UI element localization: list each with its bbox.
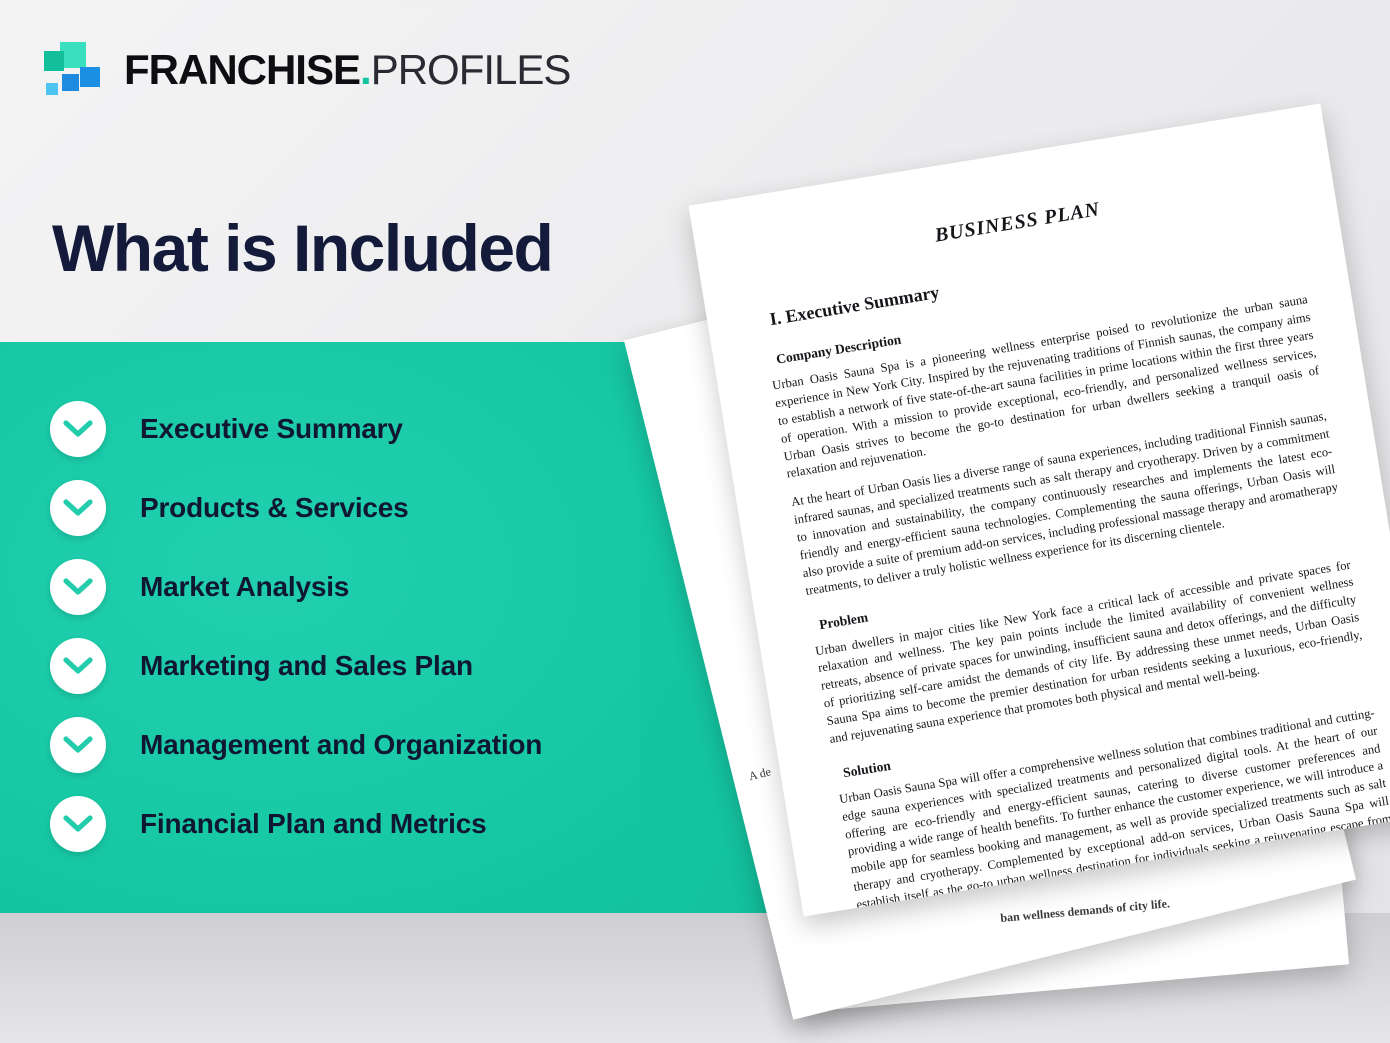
list-item-label: Financial Plan and Metrics xyxy=(140,808,486,840)
brand-logo[interactable]: FRANCHISE.PROFILES xyxy=(44,42,570,98)
list-item-products-services[interactable]: Products & Services xyxy=(50,477,710,539)
list-item-label: Executive Summary xyxy=(140,413,403,445)
list-item-label: Market Analysis xyxy=(140,571,349,603)
chevron-down-icon[interactable] xyxy=(50,401,106,457)
list-item-executive-summary[interactable]: Executive Summary xyxy=(50,398,710,460)
included-sections-list: Executive Summary Products & Services Ma… xyxy=(50,398,710,872)
list-item-financial-plan-and-metrics[interactable]: Financial Plan and Metrics xyxy=(50,793,710,855)
business-plan-document[interactable]: BUSINESS PLAN I. Executive Summary Compa… xyxy=(689,103,1390,916)
list-item-label: Products & Services xyxy=(140,492,409,524)
logo-square-4 xyxy=(62,74,79,91)
brand-name-dot: . xyxy=(360,46,371,93)
chevron-down-icon[interactable] xyxy=(50,796,106,852)
logo-square-3 xyxy=(80,67,100,87)
squares-logo-icon xyxy=(44,42,108,98)
chevron-down-icon[interactable] xyxy=(50,638,106,694)
brand-wordmark: FRANCHISE.PROFILES xyxy=(124,49,570,91)
logo-square-5 xyxy=(46,83,58,95)
list-item-marketing-and-sales-plan[interactable]: Marketing and Sales Plan xyxy=(50,635,710,697)
list-item-management-and-organization[interactable]: Management and Organization xyxy=(50,714,710,776)
logo-square-2 xyxy=(44,51,64,71)
chevron-down-icon[interactable] xyxy=(50,559,106,615)
brand-name-light: PROFILES xyxy=(371,46,571,93)
list-item-label: Marketing and Sales Plan xyxy=(140,650,473,682)
document-title: BUSINESS PLAN xyxy=(741,167,1294,279)
page-title: What is Included xyxy=(52,214,552,283)
brand-name-bold: FRANCHISE xyxy=(124,46,360,93)
chevron-down-icon[interactable] xyxy=(50,717,106,773)
list-item-market-analysis[interactable]: Market Analysis xyxy=(50,556,710,618)
list-item-label: Management and Organization xyxy=(140,729,542,761)
chevron-down-icon[interactable] xyxy=(50,480,106,536)
